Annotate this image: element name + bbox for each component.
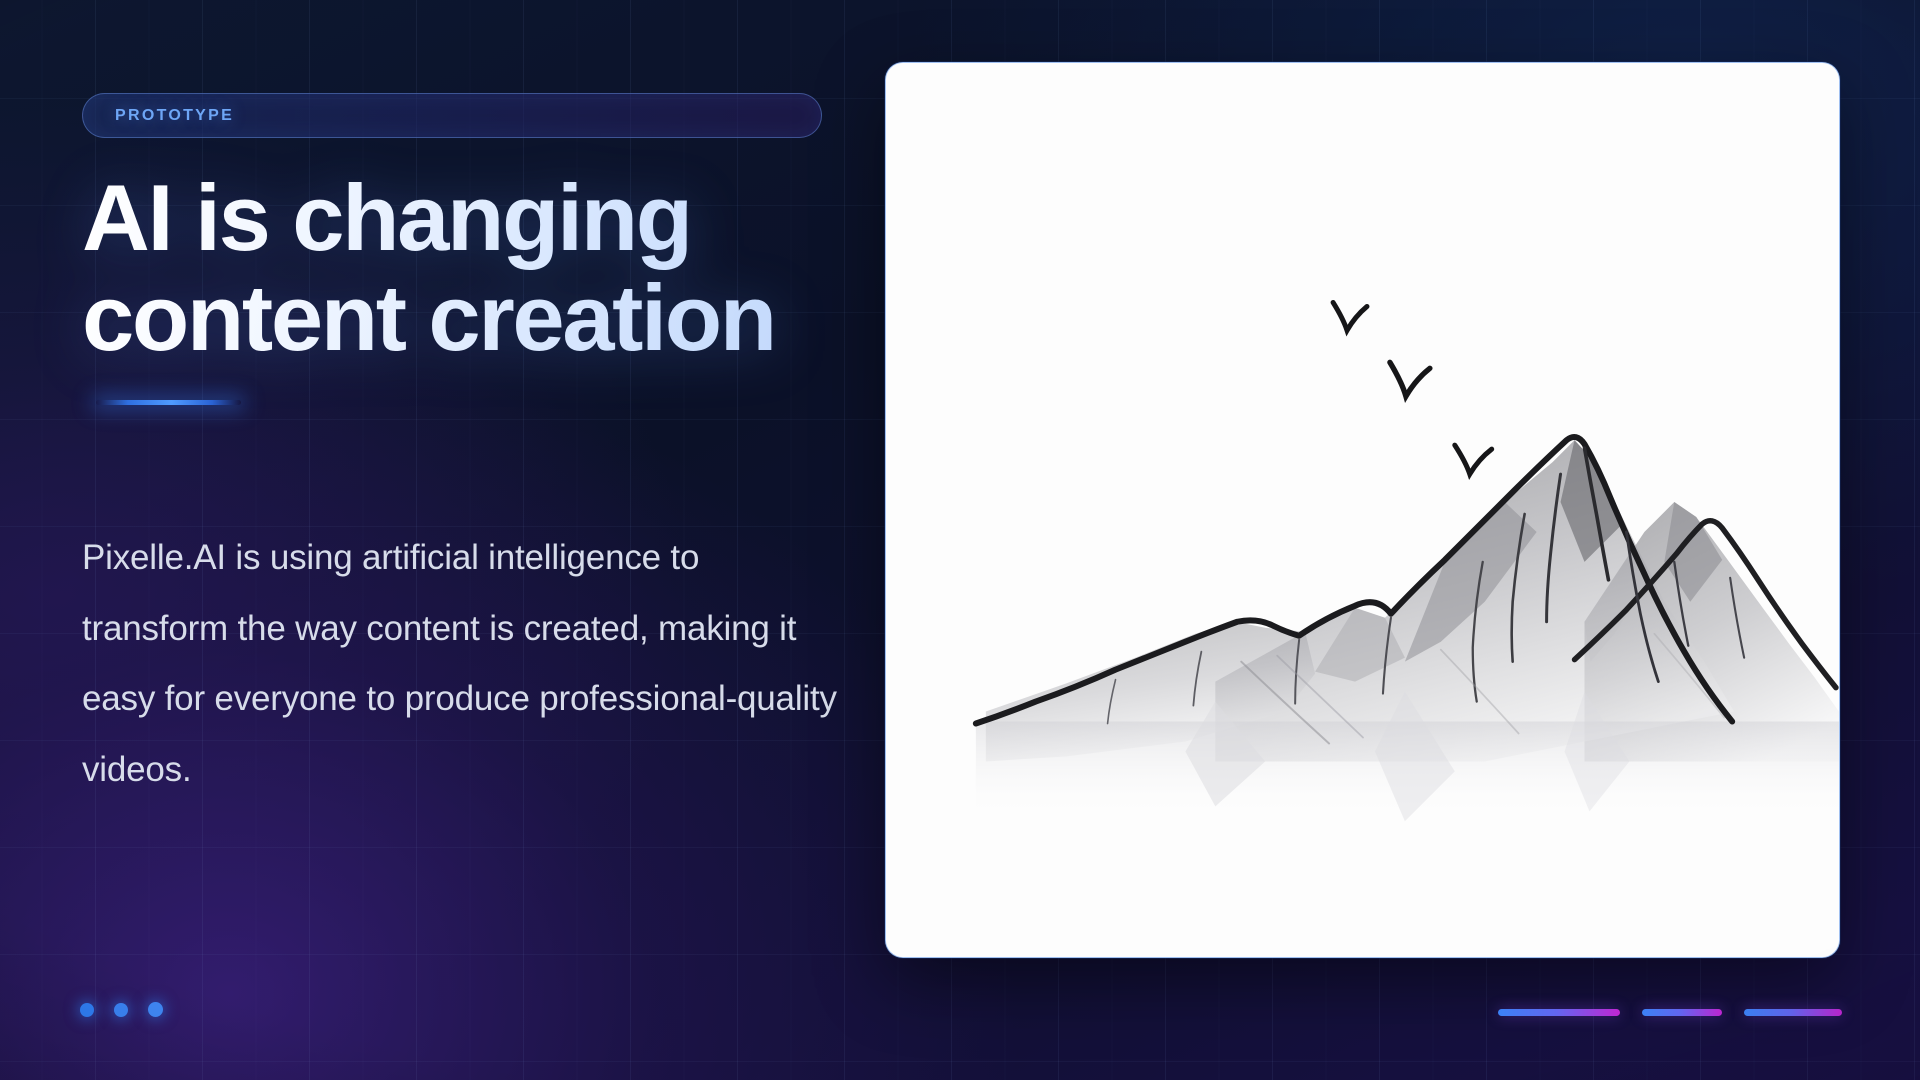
page-title-line-1: AI is changing <box>82 168 862 268</box>
media-card[interactable] <box>885 62 1840 958</box>
mountain-sketch-illustration <box>886 63 1839 957</box>
slide-root: PROTOTYPE AI is changing content creatio… <box>0 0 1920 1080</box>
prototype-badge: PROTOTYPE <box>82 93 822 138</box>
slide-indicator-dots[interactable] <box>80 1002 163 1017</box>
progress-bar-1[interactable] <box>1498 1009 1620 1016</box>
progress-bar-3[interactable] <box>1744 1009 1842 1016</box>
page-title: AI is changing content creation <box>82 168 862 367</box>
slide-dot-3[interactable] <box>148 1002 163 1017</box>
progress-bar-group[interactable] <box>1498 1009 1842 1016</box>
page-title-line-2: content creation <box>82 268 862 368</box>
progress-bar-2[interactable] <box>1642 1009 1722 1016</box>
slide-dot-1[interactable] <box>80 1003 94 1017</box>
prototype-badge-label: PROTOTYPE <box>115 107 234 125</box>
title-accent-underline <box>96 400 241 405</box>
content-column: PROTOTYPE AI is changing content creatio… <box>82 0 842 1080</box>
body-paragraph: Pixelle.AI is using artificial intellige… <box>82 523 842 806</box>
slide-dot-2[interactable] <box>114 1003 128 1017</box>
